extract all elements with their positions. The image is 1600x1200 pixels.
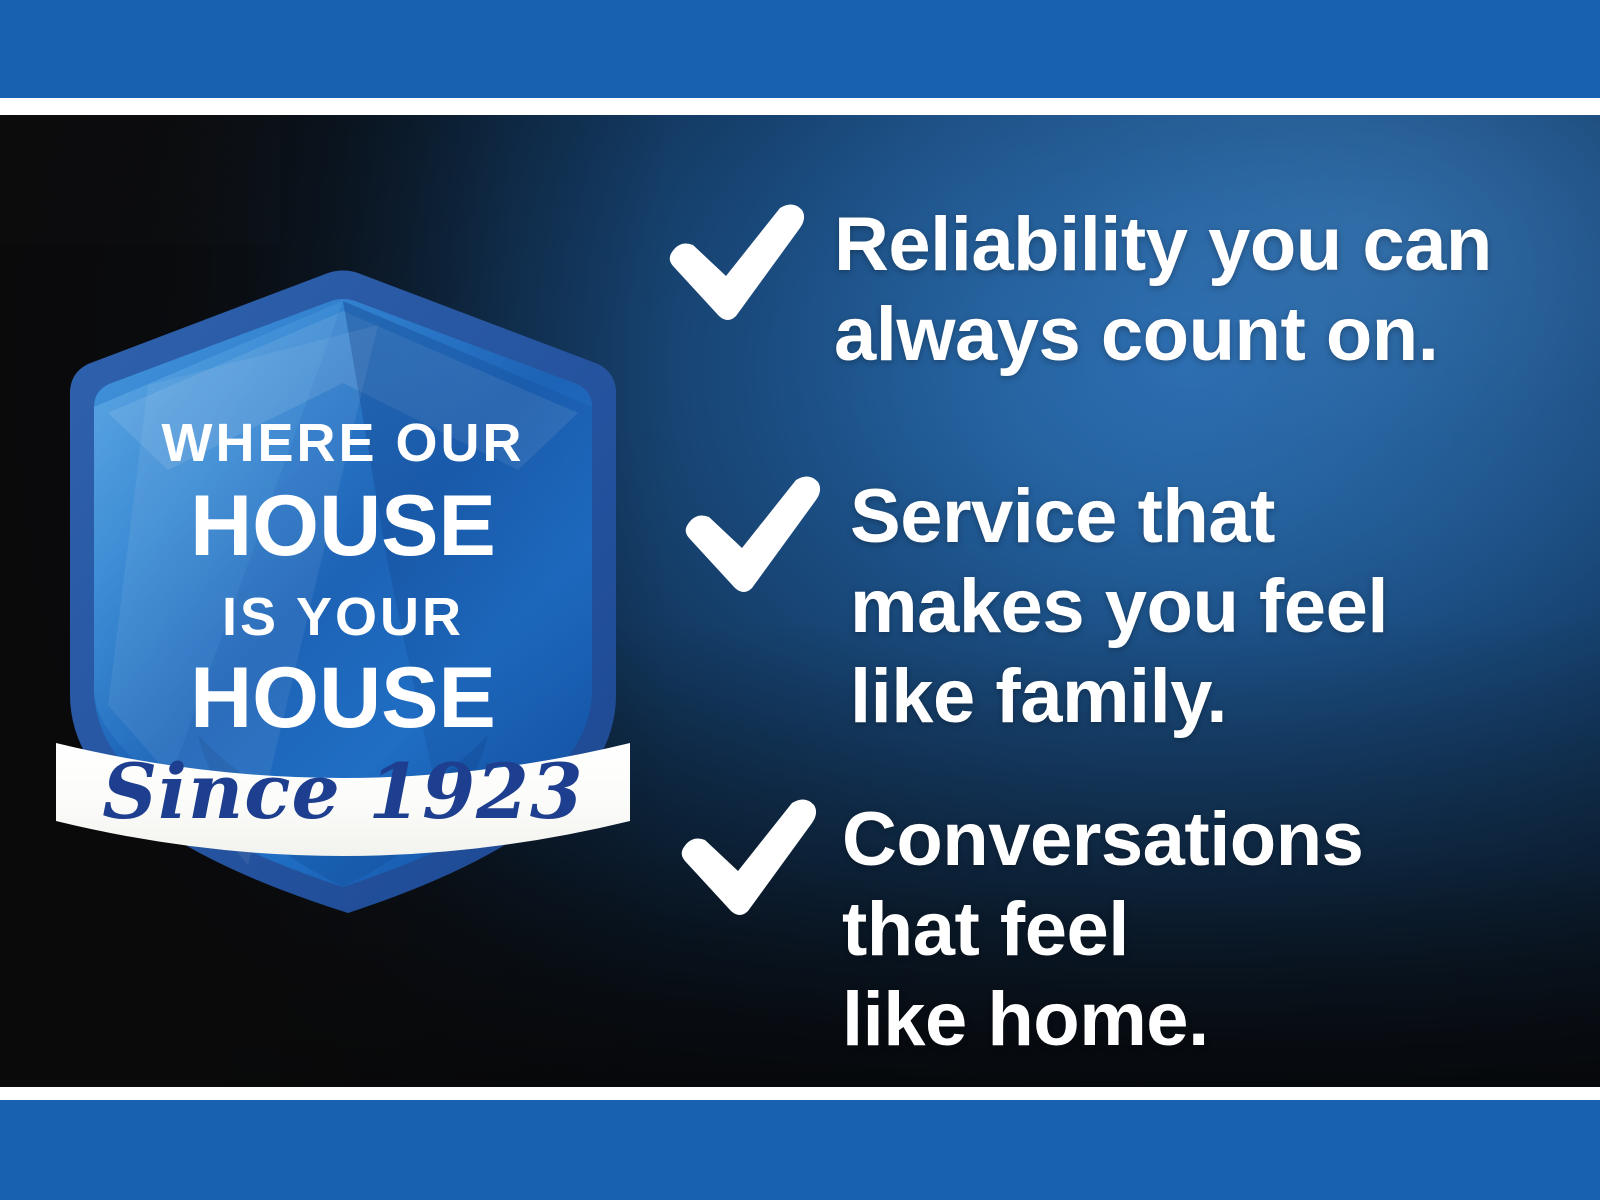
company-badge: WHERE OUR HOUSE IS YOUR HOUSE Since 1923 bbox=[48, 265, 638, 925]
bottom-white-divider bbox=[0, 1087, 1600, 1100]
checkmark-icon bbox=[676, 476, 826, 594]
main-canvas: WHERE OUR HOUSE IS YOUR HOUSE Since 1923… bbox=[0, 115, 1600, 1087]
badge-line-1: WHERE OUR bbox=[162, 413, 525, 473]
badge-line-4: HOUSE bbox=[190, 650, 496, 746]
checklist-item: Reliability you can always count on. bbox=[660, 200, 1492, 380]
checklist-item: Service that makes you feel like family. bbox=[676, 472, 1388, 742]
checkmark-icon bbox=[660, 204, 810, 322]
badge-line-3: IS YOUR bbox=[222, 587, 464, 647]
checklist-item-text: Service that makes you feel like family. bbox=[850, 472, 1388, 742]
checklist-item: Conversations that feel like home. bbox=[672, 795, 1363, 1065]
badge-ribbon-text: Since 1923 bbox=[102, 747, 584, 836]
background-noise-texture bbox=[0, 115, 280, 245]
promo-graphic: WHERE OUR HOUSE IS YOUR HOUSE Since 1923… bbox=[0, 0, 1600, 1200]
checkmark-icon bbox=[672, 799, 822, 917]
bottom-brand-bar bbox=[0, 1100, 1600, 1200]
checklist-item-text: Conversations that feel like home. bbox=[842, 795, 1363, 1065]
checklist-item-text: Reliability you can always count on. bbox=[834, 200, 1492, 380]
top-brand-bar bbox=[0, 0, 1600, 98]
badge-line-2: HOUSE bbox=[190, 478, 496, 574]
top-white-divider bbox=[0, 98, 1600, 115]
